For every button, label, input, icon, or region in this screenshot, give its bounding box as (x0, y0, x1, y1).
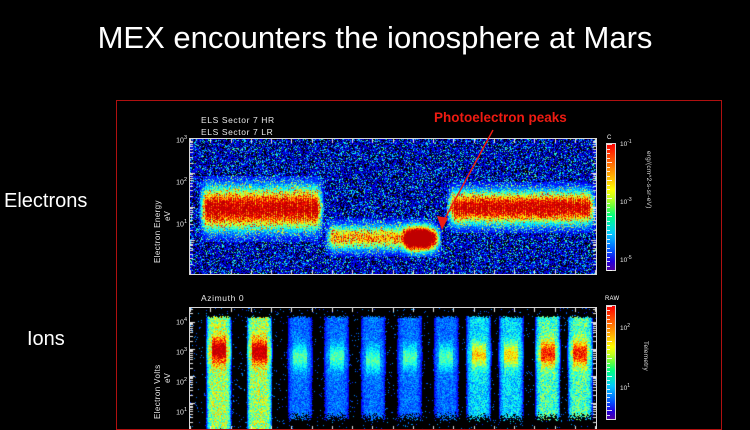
panel-ions: Azimuth 0 Electron Volts eV 104 103 102 … (117, 291, 722, 430)
cbar-exponent: -5 (627, 255, 631, 261)
panel-electrons-ytick-0: 103 (165, 135, 187, 144)
ytick-exponent: 2 (184, 377, 187, 383)
panel-electrons-ytick-2: 101 (165, 219, 187, 228)
spectrogram-ions-canvas (190, 308, 596, 430)
panel-ions-ytick-0: 104 (165, 317, 187, 326)
panel-ions-title: Azimuth 0 (201, 293, 244, 303)
colorbar-ions-head: RAW (605, 296, 619, 302)
ytick-mantissa: 10 (176, 379, 184, 386)
cbar-exponent: -1 (627, 139, 631, 145)
colorbar-electrons (606, 143, 616, 271)
panel-ions-ytick-3: 101 (165, 407, 187, 416)
colorbar-ions (606, 305, 616, 420)
ytick-exponent: 1 (184, 407, 187, 413)
colorbar-electrons-ticklabel-2: 10-5 (620, 255, 632, 264)
ytick-exponent: 1 (184, 219, 187, 225)
ytick-exponent: 2 (184, 177, 187, 183)
panel-electrons-title-hr: ELS Sector 7 HR (201, 115, 275, 125)
colorbar-ions-axis-title: Telemetry (642, 341, 649, 371)
colorbar-electrons-ticklabel-0: 10-1 (620, 139, 632, 148)
ytick-exponent: 3 (184, 347, 187, 353)
colorbar-ions-ticklabel-1: 101 (620, 383, 630, 392)
colorbar-ions-ticks (607, 306, 615, 419)
spectrogram-electrons-canvas (190, 139, 596, 274)
slide-root: MEX encounters the ionosphere at Mars El… (0, 0, 750, 410)
colorbar-electrons-axis-title: erg/(cm^2-s-sr-eV) (645, 151, 652, 209)
ytick-mantissa: 10 (176, 319, 184, 326)
ytick-mantissa: 10 (176, 137, 184, 144)
spectrogram-ions[interactable] (189, 307, 597, 430)
cbar-exponent: 1 (627, 383, 630, 389)
panel-electrons-ytick-1: 102 (165, 177, 187, 186)
colorbar-electrons-head: C (607, 135, 612, 141)
panel-ions-ytick-2: 102 (165, 377, 187, 386)
panel-electrons-title-lr: ELS Sector 7 LR (201, 127, 273, 137)
panel-ions-yaxis-title: Electron Volts (153, 364, 162, 419)
spectrogram-electrons[interactable] (189, 138, 597, 275)
cbar-exponent: -3 (627, 197, 631, 203)
ytick-mantissa: 10 (176, 221, 184, 228)
page-title: MEX encounters the ionosphere at Mars (0, 20, 750, 56)
cbar-exponent: 2 (627, 323, 630, 329)
ytick-exponent: 3 (184, 135, 187, 141)
annotation-photoelectron-peaks: Photoelectron peaks (434, 110, 567, 125)
ytick-exponent: 4 (184, 317, 187, 323)
panel-electrons-yaxis-title: Electron Energy (153, 200, 162, 263)
ytick-mantissa: 10 (176, 179, 184, 186)
row-label-electrons: Electrons (4, 190, 87, 213)
row-label-ions: Ions (27, 328, 65, 351)
ytick-mantissa: 10 (176, 349, 184, 356)
figure-frame: ELS Sector 7 HR ELS Sector 7 LR Electron… (116, 100, 722, 430)
panel-electrons: ELS Sector 7 HR ELS Sector 7 LR Electron… (117, 113, 722, 303)
panel-ions-ytick-1: 103 (165, 347, 187, 356)
colorbar-ions-ticklabel-0: 102 (620, 323, 630, 332)
ytick-mantissa: 10 (176, 409, 184, 416)
colorbar-electrons-ticks (607, 144, 615, 270)
colorbar-electrons-ticklabel-1: 10-3 (620, 197, 632, 206)
